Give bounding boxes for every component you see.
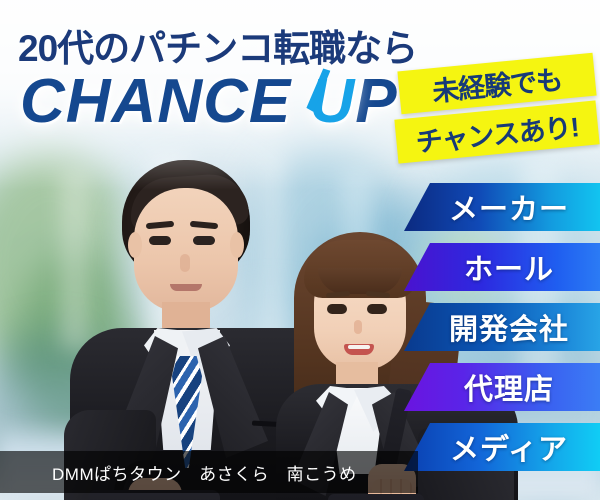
man-ear-right	[230, 232, 244, 258]
woman-bangs	[304, 240, 416, 298]
recruitment-banner-ad[interactable]: 20代のパチンコ転職なら CHANCE UP 未経験でも チャンスあり! メーカ…	[0, 0, 600, 500]
headline-text: 20代のパチンコ転職なら	[18, 18, 418, 72]
category-menu: メーカー ホール 開発会社 代理店 メディア	[404, 183, 600, 483]
logo-text-p: P	[355, 67, 397, 136]
menu-item-label: 代理店	[450, 366, 554, 408]
menu-item-label: 開発会社	[435, 306, 569, 348]
menu-item-label: ホール	[450, 246, 554, 288]
credit-bar: DMMぱちタウン あさくら 南こうめ	[0, 451, 418, 493]
woman-eye-right	[367, 304, 387, 314]
menu-item-media[interactable]: メディア	[404, 423, 600, 471]
credit-text: DMMぱちタウン あさくら 南こうめ	[0, 460, 357, 485]
man-face	[134, 188, 238, 312]
woman-nose	[354, 320, 362, 334]
menu-item-label: メーカー	[435, 186, 569, 228]
menu-item-hall[interactable]: ホール	[404, 243, 600, 291]
menu-item-maker[interactable]: メーカー	[404, 183, 600, 231]
logo-text-chance: CHANCE	[20, 67, 309, 136]
woman-handbag	[328, 494, 424, 500]
man-eye-right	[193, 236, 215, 245]
menu-item-development-company[interactable]: 開発会社	[404, 303, 600, 351]
man-nose	[180, 254, 190, 272]
man-eye-left	[149, 236, 171, 245]
menu-item-label: メディア	[436, 426, 568, 468]
menu-item-agency[interactable]: 代理店	[404, 363, 600, 411]
man-ear-left	[128, 232, 142, 258]
woman-eye-left	[327, 304, 347, 314]
woman-mouth	[344, 344, 374, 355]
man-mouth	[170, 284, 202, 291]
chance-up-logo: CHANCE UP	[20, 66, 420, 142]
